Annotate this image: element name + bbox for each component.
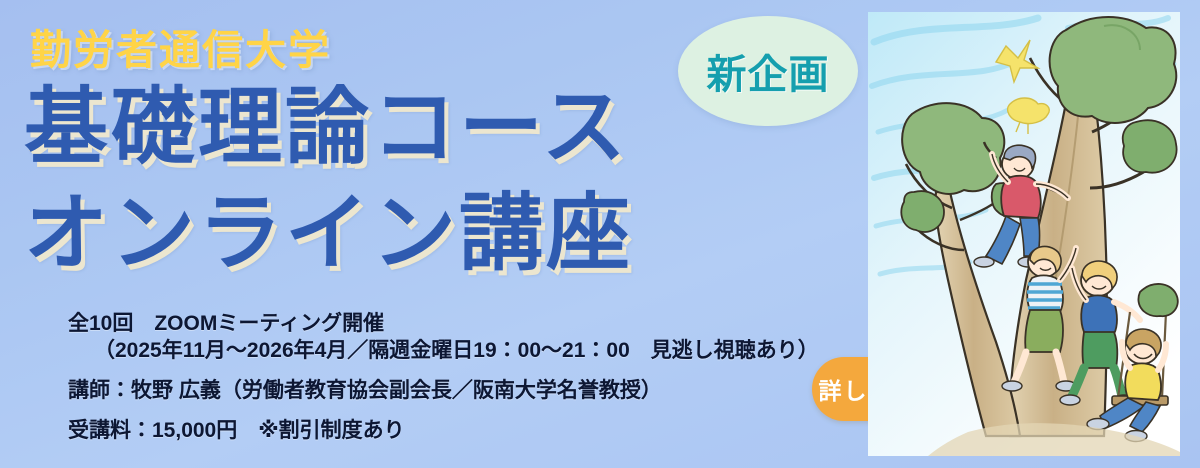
detail-sessions: 全10回 ZOOMミーティング開催	[68, 310, 858, 337]
course-title-line-1: 基礎理論コース	[24, 86, 629, 168]
detail-instructor: 講師：牧野 広義（労働者教育協会副会長／阪南大学名誉教授）	[68, 377, 858, 404]
organization-name: 勤労者通信大学	[30, 16, 331, 76]
course-details: 全10回 ZOOMミーティング開催 （2025年11月〜2026年4月／隔週金曜…	[68, 310, 858, 444]
tree-illustration	[868, 12, 1180, 456]
detail-schedule: （2025年11月〜2026年4月／隔週金曜日19：00〜21：00 見逃し視聴…	[68, 337, 858, 364]
promo-banner: 勤労者通信大学 基礎理論コース オンライン講座 新企画 全10回 ZOOMミーテ…	[0, 0, 1200, 468]
new-project-badge: 新企画	[678, 16, 858, 126]
detail-fee: 受講料：15,000円 ※割引制度あり	[68, 417, 858, 444]
new-project-badge-label: 新企画	[707, 42, 830, 100]
tree-illustration-svg	[868, 12, 1180, 456]
foliage-swing-anchor	[1138, 284, 1177, 316]
course-title-line-2: オンライン講座	[24, 192, 633, 274]
